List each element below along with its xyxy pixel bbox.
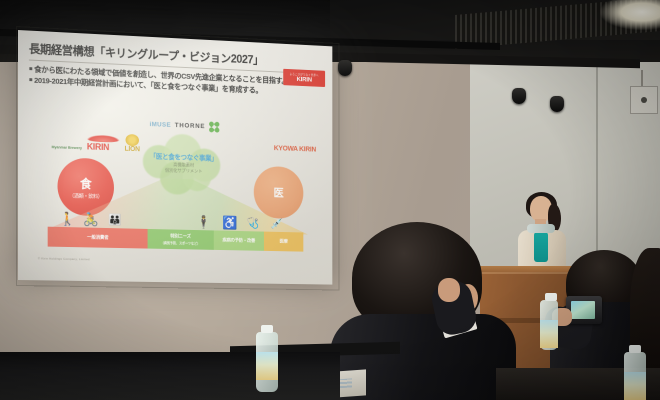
stethoscope-icon: 🩺 bbox=[246, 219, 259, 230]
cane-walker-icon: 🕴 bbox=[196, 215, 211, 228]
kirin-logo-label: KIRIN bbox=[87, 141, 109, 152]
thorne-logo: THORNE bbox=[175, 122, 205, 130]
lion-logo-label: LION bbox=[125, 146, 140, 153]
speaker-mount bbox=[641, 70, 643, 87]
camera-lcd-screen bbox=[571, 301, 595, 319]
projection-screen: 長期経営構想「キリングループ・ビジョン2027」 ■食から医にわたる領域で価値を… bbox=[18, 30, 332, 285]
water-bottle bbox=[256, 332, 278, 392]
wall-speaker-icon bbox=[630, 86, 658, 114]
bottle-cap bbox=[545, 293, 557, 301]
slide-bullets: ■食から医にわたる領域で価値を創造し、世界のCSV先進企業となることを目指す。 … bbox=[29, 64, 324, 99]
bullet-marker-icon: ■ bbox=[29, 67, 32, 73]
pictogram-row: 🚶 🚴 👪 🕴 ♿ 🩺 💉 bbox=[54, 201, 300, 231]
lion-logo: LION bbox=[125, 134, 140, 153]
conference-room-photo: 長期経営構想「キリングループ・ビジョン2027」 ■食から医にわたる領域で価値を… bbox=[0, 0, 660, 400]
walking-person-icon: 🚶 bbox=[59, 212, 75, 225]
presenter-inner-top bbox=[534, 232, 548, 262]
syringe-icon: 💉 bbox=[270, 219, 283, 230]
slide-footer: © Kirin Holdings Company, Limited bbox=[38, 256, 90, 261]
pyramid-segment: 一般消費者 bbox=[48, 227, 148, 249]
bottle-label bbox=[256, 352, 278, 380]
presenter-scarf bbox=[527, 224, 555, 233]
pyramid-segment-label: 特別ニーズ bbox=[170, 234, 191, 240]
bottle-label bbox=[624, 372, 646, 400]
track-light-icon bbox=[512, 88, 526, 104]
bottle-cap bbox=[629, 345, 641, 353]
slide-content: 長期経営構想「キリングループ・ビジョン2027」 ■食から医にわたる領域で価値を… bbox=[18, 30, 332, 285]
bullet-marker-icon: ■ bbox=[29, 77, 32, 83]
audience-center-hand bbox=[438, 278, 460, 302]
pyramid-segment-label: 疾病の予防・改善 bbox=[222, 237, 255, 243]
ceiling-light-glow bbox=[600, 0, 660, 30]
kyowa-kirin-logo: KYOWA KIRIN bbox=[274, 143, 316, 153]
pyramid-segment-label: 一般消費者 bbox=[87, 234, 108, 240]
track-light-icon bbox=[338, 60, 352, 76]
wheelchair-icon: ♿ bbox=[222, 216, 237, 229]
logo-row-left: Myanmar Brewery KIRIN LION bbox=[52, 131, 140, 153]
bottle-cap bbox=[261, 325, 273, 333]
myanmar-brewery-label: Myanmar Brewery bbox=[52, 145, 82, 150]
pyramid-segment: 疾病の予防・改善 bbox=[214, 230, 264, 250]
water-bottle bbox=[540, 300, 558, 350]
cyclist-icon: 🚴 bbox=[83, 213, 99, 226]
pyramid-segment: 医療 bbox=[264, 232, 304, 252]
pyramid-segment-label: 医療 bbox=[280, 239, 288, 245]
lion-mane-icon bbox=[125, 134, 138, 146]
kirin-logo-tagline: よろこびがつなぐ世界へ bbox=[290, 72, 319, 77]
myanmar-brewery-logo: Myanmar Brewery bbox=[52, 146, 82, 151]
family-group-icon: 👪 bbox=[108, 215, 121, 226]
water-bottle bbox=[624, 352, 646, 400]
kirin-logo-name: KIRIN bbox=[297, 76, 312, 83]
bottle-label bbox=[540, 320, 558, 348]
clover-logo-icon bbox=[209, 122, 219, 133]
pyramid-diagram: 🚶 🚴 👪 🕴 ♿ 🩺 💉 一般消費者特別ニーズ（病気予防、スポーツなど）疾病の… bbox=[34, 174, 316, 255]
kirin-logo: KIRIN bbox=[87, 135, 120, 153]
pyramid-segment-sublabel: （病気予防、スポーツなど） bbox=[161, 240, 200, 246]
imuse-logo: iMUSE bbox=[149, 121, 171, 129]
kirin-corner-logo: よろこびがつなぐ世界へ KIRIN bbox=[283, 69, 325, 87]
wall-corner-seam bbox=[596, 46, 598, 276]
pyramid-segment: 特別ニーズ（病気予防、スポーツなど） bbox=[147, 229, 213, 250]
track-light-icon bbox=[550, 96, 564, 112]
front-desk bbox=[0, 352, 340, 400]
